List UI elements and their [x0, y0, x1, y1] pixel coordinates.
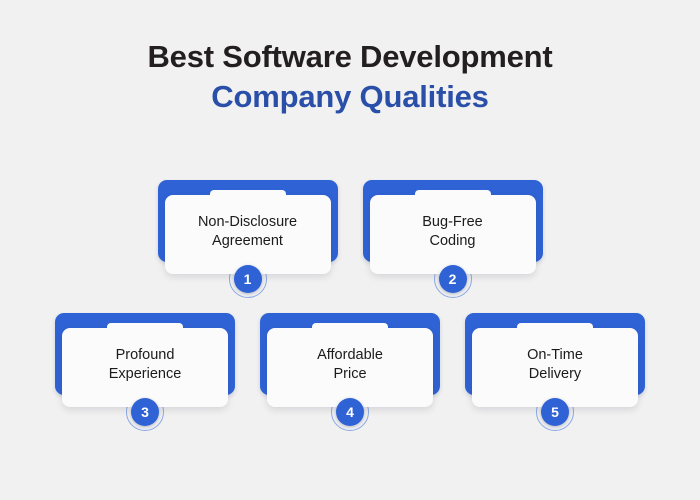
card-number-badge: 2	[439, 265, 467, 293]
quality-card-5[interactable]: On-Time Delivery 5	[465, 313, 645, 429]
card-number-badge: 3	[131, 398, 159, 426]
quality-card-2[interactable]: Bug-Free Coding 2	[363, 180, 543, 296]
card-row-top: Non-Disclosure Agreement 1 Bug-Free Codi…	[0, 180, 700, 296]
card-label: Profound Experience	[62, 328, 228, 407]
card-row-bottom: Profound Experience 3 Affordable Price 4…	[0, 313, 700, 429]
card-label: Affordable Price	[267, 328, 433, 407]
card-label: On-Time Delivery	[472, 328, 638, 407]
quality-card-3[interactable]: Profound Experience 3	[55, 313, 235, 429]
card-number-badge: 4	[336, 398, 364, 426]
card-label: Bug-Free Coding	[370, 195, 536, 274]
card-face: On-Time Delivery	[472, 328, 638, 407]
title-line-primary: Best Software Development	[0, 38, 700, 76]
card-face: Affordable Price	[267, 328, 433, 407]
quality-card-1[interactable]: Non-Disclosure Agreement 1	[158, 180, 338, 296]
quality-card-4[interactable]: Affordable Price 4	[260, 313, 440, 429]
card-label: Non-Disclosure Agreement	[165, 195, 331, 274]
card-face: Non-Disclosure Agreement	[165, 195, 331, 274]
card-face: Profound Experience	[62, 328, 228, 407]
title-line-secondary: Company Qualities	[0, 78, 700, 116]
card-number-badge: 5	[541, 398, 569, 426]
page-title: Best Software Development Company Qualit…	[0, 38, 700, 116]
infographic-canvas: Best Software Development Company Qualit…	[0, 0, 700, 500]
card-face: Bug-Free Coding	[370, 195, 536, 274]
card-number-badge: 1	[234, 265, 262, 293]
